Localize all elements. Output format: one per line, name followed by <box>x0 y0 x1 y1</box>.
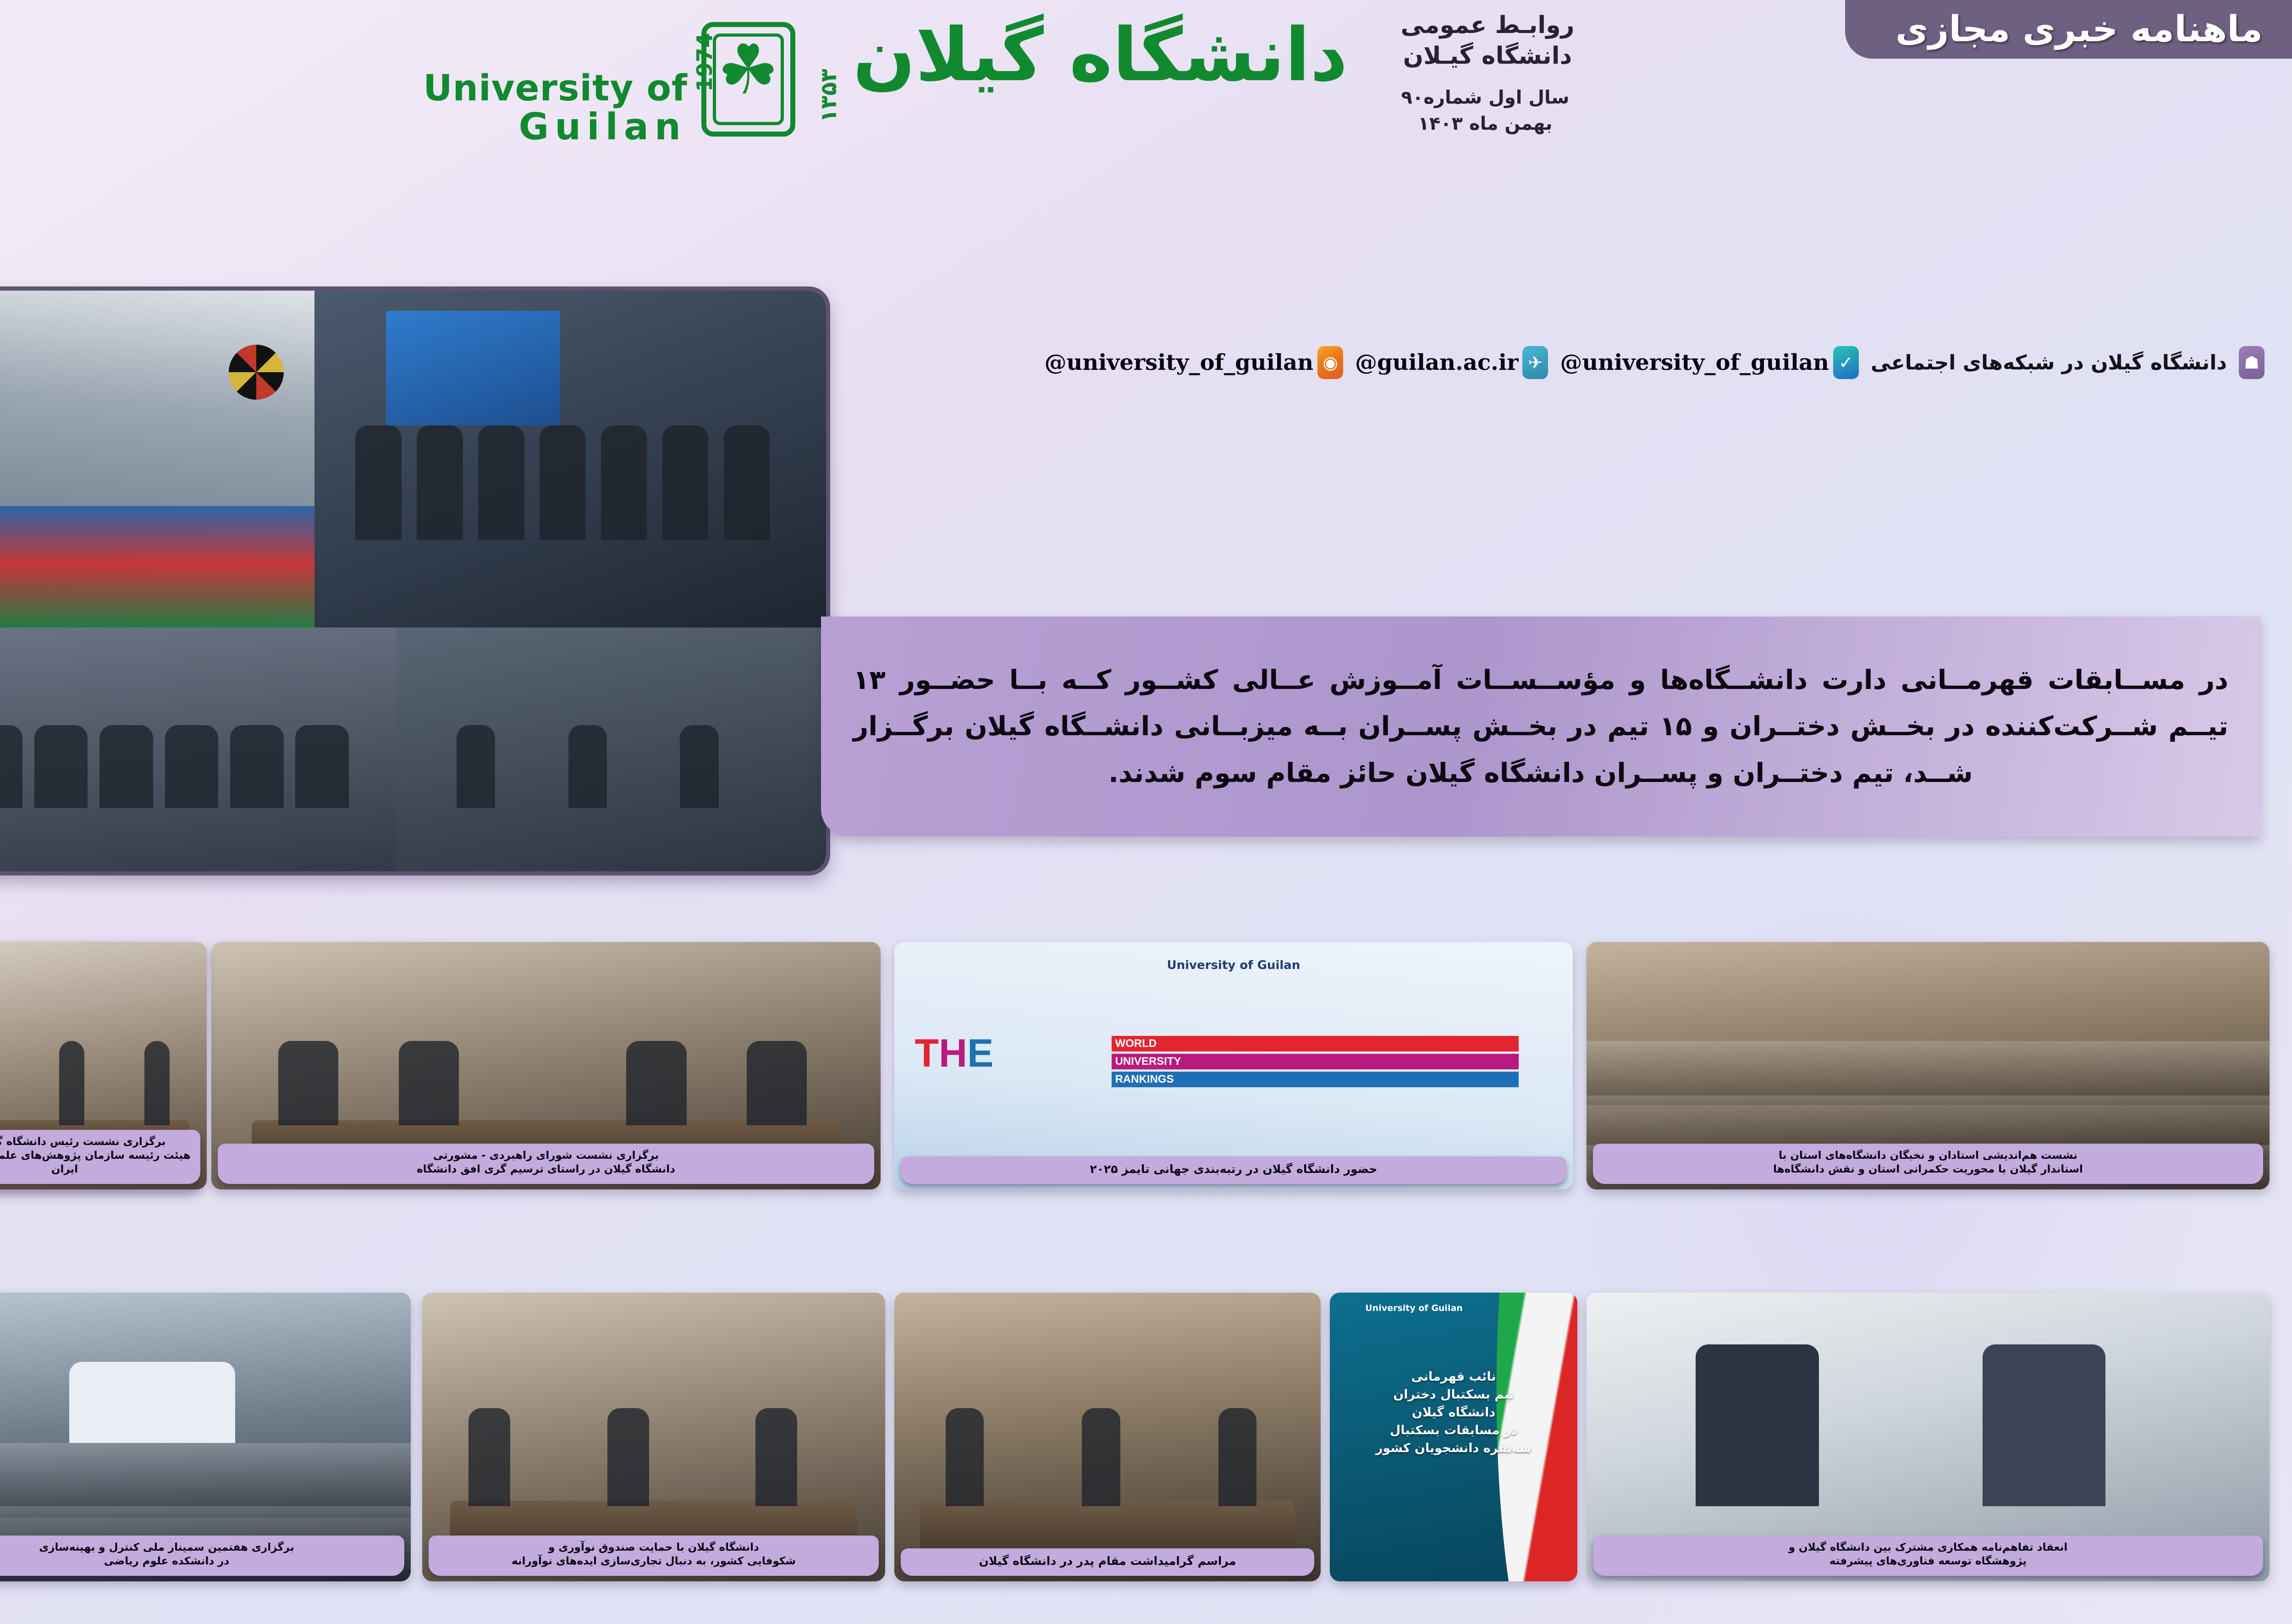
overlay-line-3: دانشگاه گیلان <box>1350 1404 1558 1421</box>
masthead-title: ماهنامه خبری مجازی <box>1845 0 2292 59</box>
caption-line-1: برگزاری هفتمین سمینار ملی کنترل و بهینه‌… <box>0 1541 396 1555</box>
caption-line-2: در دانشکده علوم ریاضی <box>0 1555 396 1569</box>
caption-line-1: حضور دانشگاه گیلان در رتبه‌بندی جهانی تا… <box>909 1162 1558 1177</box>
guilan-logo-chip: University of Guilan <box>1167 959 1300 972</box>
news-card-caption: نشست هم‌اندیشی استادان و نخبگان دانشگاه‌… <box>1593 1144 2263 1184</box>
news-card-caption: دانشگاه گیلان با حمایت صندوق نوآوری و شک… <box>429 1536 879 1576</box>
logo-year-gregorian: 1974 <box>692 33 717 92</box>
guilan-badge-icon: ☗ <box>2239 346 2264 379</box>
news-card-caption: برگزاری نشست شورای راهبردی - مشورتی دانش… <box>218 1144 874 1184</box>
the-line-university: UNIVERSITY <box>1112 1054 1519 1069</box>
caption-line-2: استاندار گیلان با محوریت حکمرانی استان و… <box>1601 1163 2255 1177</box>
news-card-caption: انعقاد تفاهم‌نامه همکاری مشترک بین دانشگ… <box>1593 1536 2263 1576</box>
the-rankings-logo: WORLD UNIVERSITY RANKINGS <box>1112 1036 1519 1090</box>
news-card[interactable]: برگزاری نشست شورای راهبردی - مشورتی دانش… <box>211 942 881 1189</box>
issue-info-block: سال اول شماره۹۰ بهمن ماه ۱۴۰۳ <box>1384 85 1586 137</box>
logo-english-line-2: Guilan <box>519 105 687 148</box>
news-card-caption: برگزاری نشست رئیس دانشگاه گیلان با هیئت … <box>0 1130 200 1184</box>
overlay-line-2: تیم بسکتبال دختران <box>1350 1386 1558 1404</box>
university-logo: دانشگاه گیلان ☘ 1974 ۱۳۵۳ University of … <box>174 14 1348 147</box>
caption-line-1: نشست هم‌اندیشی استادان و نخبگان دانشگاه‌… <box>1601 1149 2255 1163</box>
news-card-image: University of Guilan THE WORLD UNIVERSIT… <box>894 942 1573 1189</box>
news-card[interactable]: مراسم گرامیداشت مقام پدر در دانشگاه گیلا… <box>894 1293 1321 1581</box>
the-line-rankings: RANKINGS <box>1112 1072 1519 1087</box>
caption-line-1: انعقاد تفاهم‌نامه همکاری مشترک بین دانشگ… <box>1601 1541 2255 1555</box>
caption-line-1: برگزاری نشست رئیس دانشگاه گیلان با <box>0 1135 192 1149</box>
caption-line-2: دانشگاه گیلان در راستای ترسیم گری افق دا… <box>226 1163 866 1177</box>
news-card[interactable]: انعقاد تفاهم‌نامه همکاری مشترک بین دانشگ… <box>1587 1293 2270 1581</box>
social-item-bale[interactable]: ✓ @university_of_guilan <box>1560 346 1859 379</box>
the-logo-icon: THE <box>915 1031 993 1076</box>
overlay-line-5: سه‌نفره دانشجویان کشور <box>1350 1439 1558 1457</box>
news-card[interactable]: نشست هم‌اندیشی استادان و نخبگان دانشگاه‌… <box>1587 942 2270 1189</box>
basketball-overlay-text: نائب قهرمانی تیم بسکتبال دختران دانشگاه … <box>1350 1368 1558 1458</box>
overlay-line-4: در مسابقات بسکتبال <box>1350 1421 1558 1439</box>
news-card-basketball[interactable]: University of Guilan نائب قهرمانی تیم بس… <box>1330 1293 1577 1581</box>
telegram-icon: ✈ <box>1522 346 1548 379</box>
news-card-image <box>894 1293 1321 1581</box>
social-handle-telegram: @guilan.ac.ir <box>1355 350 1518 375</box>
news-card-image: University of Guilan نائب قهرمانی تیم بس… <box>1330 1293 1577 1581</box>
caption-line-1: برگزاری نشست شورای راهبردی - مشورتی <box>226 1149 866 1163</box>
news-card-rector[interactable]: برگزاری نشست رئیس دانشگاه گیلان با هیئت … <box>0 942 207 1189</box>
public-relations-block: روابـط عمومی دانشگاه گیـلان <box>1380 10 1595 71</box>
the-line-world: WORLD <box>1112 1036 1519 1051</box>
feature-story-text: در مســابقات قهرمــانی دارت دانشــگاه‌ها… <box>821 617 2260 837</box>
guilan-logo-chip: University of Guilan <box>1365 1304 1462 1313</box>
news-card[interactable]: University of Guilan THE WORLD UNIVERSIT… <box>894 942 1573 1189</box>
feature-photo-team <box>314 291 826 628</box>
caption-line-2: شکوفایی کشور، به دنبال تجاری‌سازی ایده‌ه… <box>437 1555 871 1569</box>
pr-line-1: روابـط عمومی <box>1380 10 1595 41</box>
social-item-instagram[interactable]: ◉ @university_of_guilan <box>1045 346 1344 379</box>
feature-photo-collage[interactable] <box>0 286 830 875</box>
news-card-caption: حضور دانشگاه گیلان در رتبه‌بندی جهانی تا… <box>901 1156 1566 1184</box>
instagram-icon: ◉ <box>1317 346 1343 379</box>
logo-year-hijri: ۱۳۵۳ <box>816 69 842 122</box>
feature-photo-group <box>0 628 397 871</box>
news-card-caption: برگزاری هفتمین سمینار ملی کنترل و بهینه‌… <box>0 1536 404 1576</box>
caption-line-2: هیئت رئیسه سازمان پژوهش‌های علمی و صنعتی… <box>0 1149 192 1177</box>
issue-number: سال اول شماره۹۰ <box>1384 85 1586 111</box>
social-handle-bale: @university_of_guilan <box>1560 350 1829 375</box>
pr-line-2: دانشگاه گیـلان <box>1380 41 1595 72</box>
caption-line-2: پژوهشگاه توسعه فناوری‌های پیشرفته <box>1601 1555 2255 1569</box>
feature-photo-table <box>397 628 826 871</box>
logo-persian-name: دانشگاه گیلان <box>853 18 1348 92</box>
feature-story-paragraph: در مســابقات قهرمــانی دارت دانشــگاه‌ها… <box>853 657 2228 797</box>
news-card[interactable]: برگزاری هفتمین سمینار ملی کنترل و بهینه‌… <box>0 1293 411 1581</box>
social-item-telegram[interactable]: ✈ @guilan.ac.ir <box>1355 346 1548 379</box>
social-handle-instagram: @university_of_guilan <box>1045 350 1314 375</box>
feature-photo-darts-play <box>0 291 314 628</box>
bale-icon: ✓ <box>1833 346 1859 379</box>
logo-english-line-1: University of <box>423 68 688 109</box>
caption-line-1: دانشگاه گیلان با حمایت صندوق نوآوری و <box>437 1541 871 1555</box>
logo-butterfly-motif-icon: ☘ <box>716 38 780 122</box>
caption-line-1: مراسم گرامیداشت مقام پدر در دانشگاه گیلا… <box>909 1554 1306 1569</box>
overlay-line-1: نائب قهرمانی <box>1350 1368 1558 1386</box>
news-card[interactable]: دانشگاه گیلان با حمایت صندوق نوآوری و شک… <box>422 1293 885 1581</box>
social-media-bar: ☗ دانشگاه گیلان در شبکه‌های اجتماعی ✓ @u… <box>1045 341 2265 384</box>
social-bar-label: دانشگاه گیلان در شبکه‌های اجتماعی <box>1871 351 2227 374</box>
issue-date: بهمن ماه ۱۴۰۳ <box>1384 111 1586 137</box>
news-card-caption: مراسم گرامیداشت مقام پدر در دانشگاه گیلا… <box>901 1548 1314 1576</box>
